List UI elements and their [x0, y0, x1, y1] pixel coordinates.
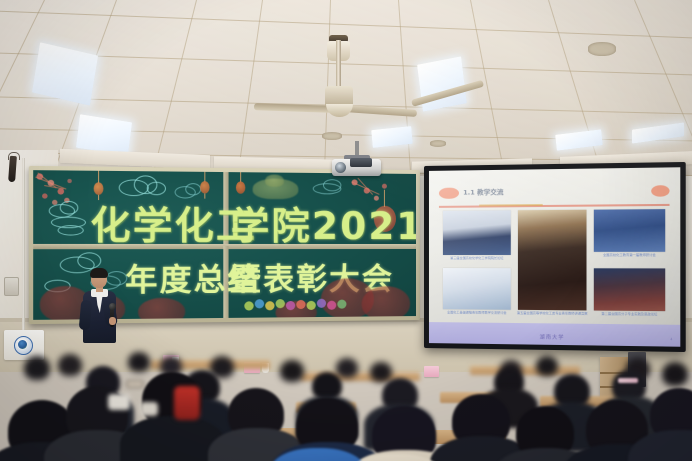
audience-area: [0, 330, 692, 461]
audience-head: [128, 352, 150, 372]
screen-frame: 1.1 教学交流 第三届全国高校化学化工学院院长论坛 全国化工基础课程青年教师教…: [424, 162, 686, 352]
ceiling-light-panel: [555, 129, 603, 150]
slide-photo-1: [443, 211, 511, 256]
slide-photo-4-caption: 全国高校化工教育第一届教师研讨会: [592, 254, 668, 258]
eyeglasses-icon: [126, 380, 144, 388]
slide-photo-4: [594, 209, 665, 252]
slide-photo-3-caption: 全国化工基础课程青年教师教学交流研讨会: [441, 311, 513, 316]
audience-head: [336, 358, 358, 378]
eyeglasses-icon: [92, 277, 105, 281]
lecture-hall-photo: 化学化工 学院2021 年度总结 暨表彰大会: [0, 0, 692, 461]
slide-title: 1.1 教学交流: [463, 186, 503, 197]
ceiling-light-panel: [32, 42, 98, 105]
slide-accent-pill-right: [651, 185, 670, 197]
projector-lens-icon: [335, 162, 346, 173]
wall-mounted-control-box[interactable]: [4, 277, 19, 296]
slide-photo-3: [443, 268, 511, 310]
hair-clip: [618, 378, 638, 383]
slide-title-bar: 1.1 教学交流: [439, 184, 670, 206]
slide-photo-2: [518, 210, 587, 311]
slide-photo-2-caption: 第五届全国高等学校化工类专业青年教师讲课竞赛: [515, 312, 589, 317]
desk-row: [470, 366, 580, 375]
ceiling-light-panel: [371, 126, 413, 148]
air-vent: [588, 42, 616, 56]
face-mask-icon: [140, 402, 158, 416]
audience-head: [370, 362, 392, 382]
air-vent: [430, 140, 446, 147]
slide-photo-1-caption: 第三届全国高校化学化工学院院长论坛: [441, 257, 513, 261]
slide-photo-5-caption: 第二届全国高分子专业实践及思政论坛: [592, 312, 668, 317]
audience-head: [536, 356, 558, 376]
slide-divider-accent: [479, 204, 543, 207]
slide-accent-pill-left: [439, 187, 459, 199]
red-scarf: [174, 386, 200, 420]
air-vent: [322, 132, 342, 140]
wall-conduit: [22, 158, 25, 338]
tiger-drawing-icon: [265, 174, 284, 186]
audience-head: [662, 362, 688, 386]
chalkboard-title-line1-b: 学院2021: [231, 195, 416, 250]
peony-flower-icon: [362, 286, 410, 320]
face-mask-icon: [108, 394, 130, 410]
audience-head: [280, 360, 304, 382]
audience-head: [58, 354, 82, 376]
peony-flower-icon: [138, 298, 185, 320]
projection-screen: 1.1 教学交流 第三届全国高校化学化工学院院长论坛 全国化工基础课程青年教师教…: [424, 162, 686, 352]
presentation-slide: 1.1 教学交流 第三届全国高校化学化工学院院长论坛 全国化工基础课程青年教师教…: [429, 167, 680, 346]
audience-head: [24, 356, 50, 380]
slide-photo-5: [594, 269, 665, 312]
